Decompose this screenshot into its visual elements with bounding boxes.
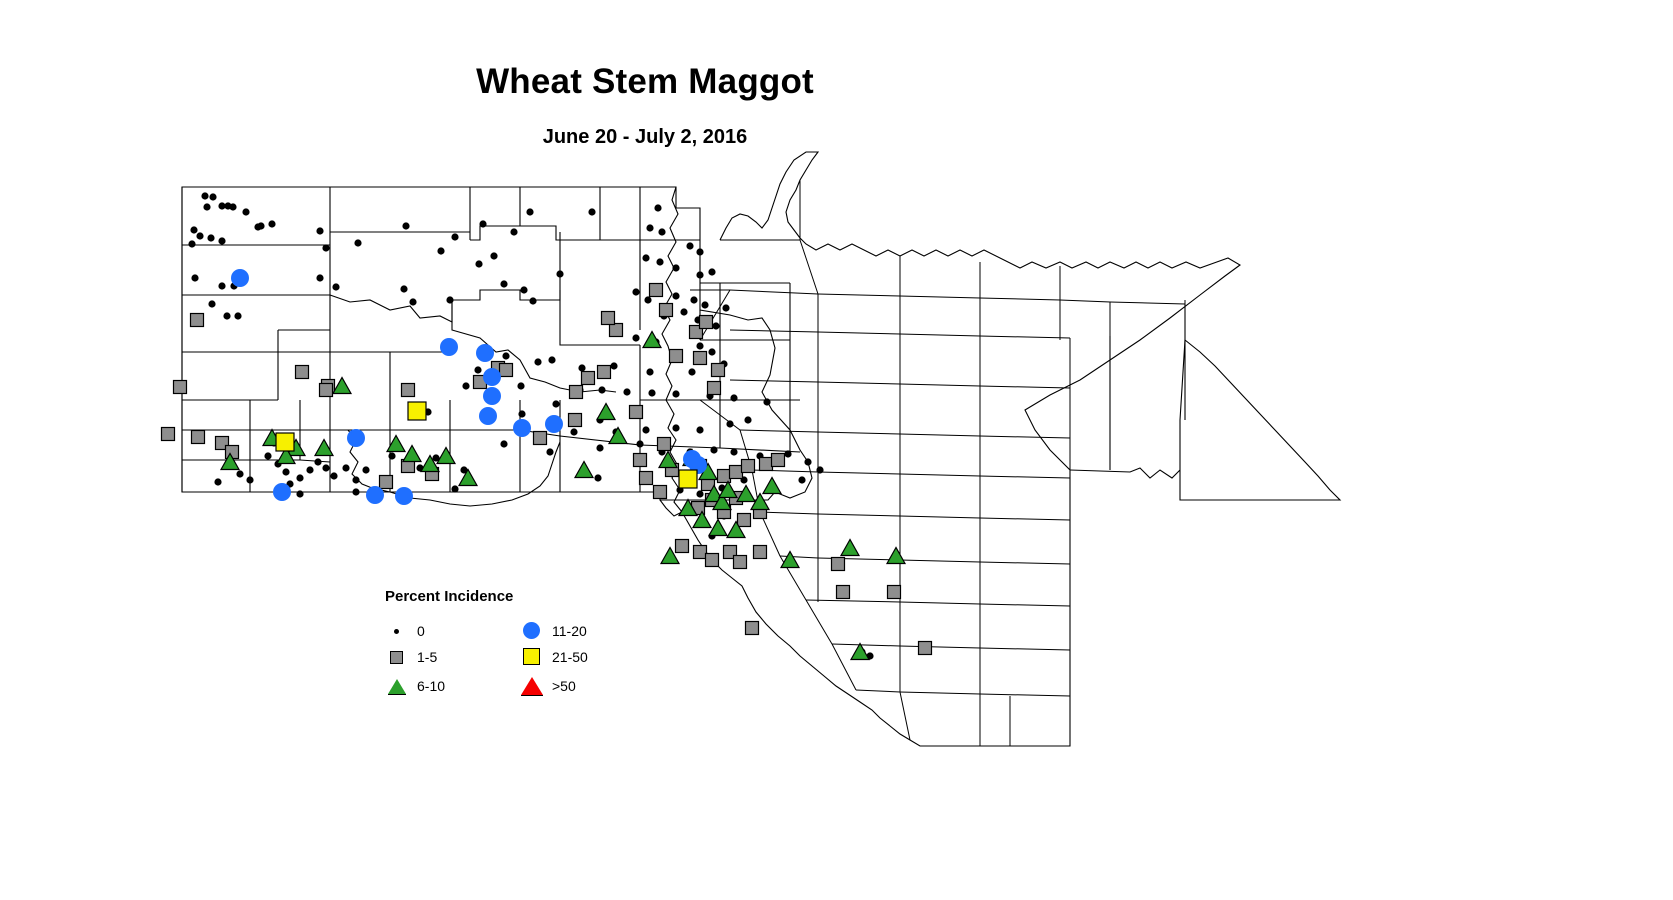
map-data-point <box>694 546 707 559</box>
map-data-point <box>534 358 541 365</box>
map-data-point <box>602 312 615 325</box>
map-data-point <box>548 356 555 363</box>
map-data-point <box>214 478 221 485</box>
map-data-point <box>644 296 651 303</box>
red-triangle-icon <box>520 673 546 699</box>
map-data-point <box>710 446 717 453</box>
map-data-point <box>646 368 653 375</box>
map-data-point <box>679 470 697 488</box>
map-data-point <box>264 452 271 459</box>
map-data-point <box>632 334 639 341</box>
map-data-point <box>268 220 275 227</box>
map-data-point <box>552 400 559 407</box>
map-data-point <box>640 472 653 485</box>
map-data-point <box>296 366 309 379</box>
green-triangle-icon <box>385 673 411 699</box>
map-data-point <box>342 464 349 471</box>
legend-label-over-50: >50 <box>552 678 576 694</box>
legend-label-0: 0 <box>417 623 425 639</box>
map-data-point <box>609 428 627 444</box>
map-data-point <box>257 222 264 229</box>
map-data-point <box>654 486 667 499</box>
map-data-point <box>546 448 553 455</box>
map-data-point <box>402 222 409 229</box>
map-data-point <box>784 450 791 457</box>
map-data-point <box>451 485 458 492</box>
map-data-point <box>207 234 214 241</box>
map-data-point <box>570 428 577 435</box>
map-data-point <box>730 466 743 479</box>
map-data-point <box>322 244 329 251</box>
map-data-point <box>520 286 527 293</box>
map-data-point <box>529 297 536 304</box>
map-data-point <box>686 242 693 249</box>
map-data-point <box>446 296 453 303</box>
map-data-point <box>700 316 713 329</box>
map-data-point <box>440 338 458 356</box>
map-data-point <box>188 240 195 247</box>
legend-label-1-5: 1-5 <box>417 649 437 665</box>
map-data-point <box>570 386 583 399</box>
map-data-point <box>816 466 823 473</box>
legend-label-21-50: 21-50 <box>552 649 588 665</box>
map-data-point <box>402 384 415 397</box>
map-data-point <box>672 424 679 431</box>
map-data-point <box>744 416 751 423</box>
map-data-point <box>851 644 869 660</box>
map-data-point <box>610 362 617 369</box>
map-data-point <box>234 312 241 319</box>
map-data-point <box>474 366 481 373</box>
map-data-point <box>306 466 313 473</box>
map-data-point <box>513 419 531 437</box>
map-data-point <box>526 208 533 215</box>
map-data-point <box>760 458 773 471</box>
legend-title: Percent Incidence <box>385 588 513 605</box>
map-data-point <box>296 490 303 497</box>
map-data-point <box>191 314 204 327</box>
map-data-point <box>919 642 932 655</box>
map-data-point <box>676 540 689 553</box>
map-data-point <box>754 546 767 559</box>
map-data-point <box>296 474 303 481</box>
map-data-point <box>347 429 365 447</box>
map-data-point <box>718 470 731 483</box>
map-data-point <box>598 366 611 379</box>
map-data-point <box>623 388 630 395</box>
map-data-point <box>400 285 407 292</box>
small-black-dot-icon <box>385 618 411 644</box>
map-data-point <box>208 300 215 307</box>
map-data-point <box>696 342 703 349</box>
map-data-point <box>332 283 339 290</box>
map-data-point <box>578 364 585 371</box>
map-data-point <box>322 464 329 471</box>
map-data-point <box>696 490 703 497</box>
map-data-point <box>708 268 715 275</box>
legend: Percent Incidence 0 1-5 6-10 11-20 21-50… <box>385 588 645 700</box>
map-data-point <box>451 233 458 240</box>
yellow-square-icon <box>520 644 546 670</box>
map-data-point <box>832 558 845 571</box>
map-data-point <box>654 204 661 211</box>
legend-label-6-10: 6-10 <box>417 678 445 694</box>
map-data-point <box>837 586 850 599</box>
map-data-point <box>490 252 497 259</box>
map-data-point <box>569 414 582 427</box>
map-data-point <box>712 322 719 329</box>
map-data-point <box>229 203 236 210</box>
map-data-point <box>690 296 697 303</box>
map-data-point <box>658 438 671 451</box>
map-data-point <box>575 462 593 478</box>
map-data-point <box>726 420 733 427</box>
map-data-point <box>314 458 321 465</box>
map-data-point <box>408 402 426 420</box>
map-data-point <box>483 387 501 405</box>
map-data-point <box>242 208 249 215</box>
map-data-point <box>192 431 205 444</box>
map-data-point <box>316 274 323 281</box>
map-data-point <box>395 487 413 505</box>
map-data-point <box>598 386 605 393</box>
map-data-point <box>556 270 563 277</box>
map-data-point <box>634 454 647 467</box>
map-data-point <box>174 381 187 394</box>
map-data-point <box>712 364 725 377</box>
map-data-point <box>479 407 497 425</box>
map-data-point <box>642 426 649 433</box>
map-data-point <box>276 433 294 451</box>
map-data-point <box>316 227 323 234</box>
map-data-point <box>333 378 351 394</box>
map-data-point <box>246 476 253 483</box>
map-data-point <box>437 448 455 464</box>
map-data-point <box>630 406 643 419</box>
map-data-point <box>696 271 703 278</box>
map-data-point <box>218 282 225 289</box>
map-data-point <box>706 554 719 567</box>
map-data-point <box>708 382 721 395</box>
map-data-point <box>672 264 679 271</box>
map-data-point <box>701 301 708 308</box>
gray-square-icon <box>385 644 411 670</box>
map-data-point <box>502 352 509 359</box>
map-data-point <box>696 426 703 433</box>
map-data-point <box>696 248 703 255</box>
map-data-point <box>632 288 639 295</box>
map-data-point <box>352 488 359 495</box>
map-data-point <box>672 292 679 299</box>
map-data-point <box>596 444 603 451</box>
map-data-point <box>660 304 673 317</box>
map-data-point <box>648 389 655 396</box>
map-data-point <box>201 192 208 199</box>
map-data-point <box>588 208 595 215</box>
map-data-point <box>483 368 501 386</box>
map-data-point <box>479 220 486 227</box>
map-data-point <box>708 348 715 355</box>
map-data-point <box>218 237 225 244</box>
map-data-point <box>510 228 517 235</box>
map-canvas <box>0 0 1673 900</box>
map-data-point <box>709 520 727 536</box>
map-data-point <box>636 440 643 447</box>
map-data-point <box>231 269 249 287</box>
map-data-point <box>650 284 663 297</box>
map-data-point <box>282 468 289 475</box>
map-data-point <box>203 203 210 210</box>
map-data-point <box>658 228 665 235</box>
map-data-point <box>656 258 663 265</box>
map-data-point <box>191 274 198 281</box>
map-data-point <box>781 552 799 568</box>
map-data-point <box>500 364 513 377</box>
map-data-point <box>738 514 751 527</box>
map-data-point <box>190 226 197 233</box>
map-data-point <box>888 586 901 599</box>
map-data-point <box>680 308 687 315</box>
map-data-point <box>646 224 653 231</box>
map-data-point <box>841 540 859 556</box>
map-data-point <box>672 390 679 397</box>
map-data-point <box>722 304 729 311</box>
map-data-point <box>196 232 203 239</box>
map-data-point <box>162 428 175 441</box>
map-data-point <box>798 476 805 483</box>
map-data-point <box>352 476 359 483</box>
map-data-point <box>320 384 333 397</box>
map-data-point <box>362 466 369 473</box>
map-data-point <box>597 404 615 420</box>
map-data-point <box>475 260 482 267</box>
map-data-point <box>409 298 416 305</box>
map-data-point <box>476 344 494 362</box>
map-data-point <box>223 312 230 319</box>
blue-circle-icon <box>520 618 546 644</box>
map-data-point <box>437 247 444 254</box>
map-data-point <box>746 622 759 635</box>
map-data-point <box>763 478 781 494</box>
legend-label-11-20: 11-20 <box>552 623 587 639</box>
map-data-point <box>688 368 695 375</box>
map-data-point <box>545 415 563 433</box>
map-data-point <box>403 446 421 462</box>
map-data-point <box>518 410 525 417</box>
map-data-point <box>534 432 547 445</box>
map-data-point <box>462 382 469 389</box>
map-data-point <box>354 239 361 246</box>
map-data-point <box>730 394 737 401</box>
map-data-point <box>887 548 905 564</box>
map-data-point <box>273 483 291 501</box>
map-data-point <box>330 472 337 479</box>
map-data-point <box>517 382 524 389</box>
map-data-point <box>763 398 770 405</box>
map-data-point <box>582 372 595 385</box>
map-data-point <box>670 350 683 363</box>
map-data-point <box>730 448 737 455</box>
map-data-point <box>380 476 393 489</box>
map-data-point <box>804 458 811 465</box>
map-data-point <box>610 324 623 337</box>
map-data-point <box>388 452 395 459</box>
map-data-point <box>734 556 747 569</box>
map-data-point <box>772 454 785 467</box>
map-data-point <box>236 470 243 477</box>
map-data-point <box>366 486 384 504</box>
map-data-point <box>742 460 755 473</box>
map-data-point <box>500 440 507 447</box>
map-data-point <box>642 254 649 261</box>
map-data-point <box>500 280 507 287</box>
map-data-point <box>694 352 707 365</box>
map-data-point <box>209 193 216 200</box>
map-data-point <box>594 474 601 481</box>
